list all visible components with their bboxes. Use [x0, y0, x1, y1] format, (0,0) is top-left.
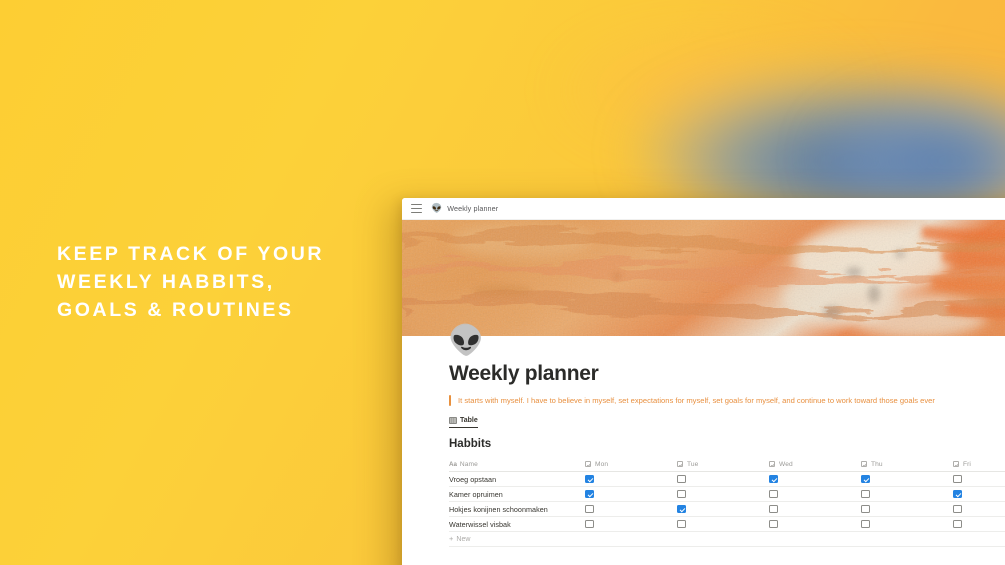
table-row[interactable]: Waterwissel visbak [449, 517, 1005, 532]
cell-wed[interactable] [769, 520, 861, 529]
table-header-row: Aa Name Mon Tue Wed [449, 457, 1005, 472]
row-name-cell[interactable]: Kamer opruimen [449, 490, 585, 499]
cell-thu[interactable] [861, 520, 953, 529]
page-emoji-icon: 👽 [431, 204, 442, 213]
checkbox-icon [861, 461, 867, 467]
table-row[interactable]: Hokjes konijnen schoonmaken [449, 502, 1005, 517]
checkbox-toggle[interactable] [677, 490, 686, 499]
cell-tue[interactable] [677, 475, 769, 484]
cell-mon[interactable] [585, 520, 677, 529]
row-name-cell[interactable]: Waterwissel visbak [449, 520, 585, 529]
checkbox-icon [953, 461, 959, 467]
cell-wed[interactable] [769, 475, 861, 484]
cell-thu[interactable] [861, 475, 953, 484]
checkbox-toggle[interactable] [769, 520, 778, 529]
cell-wed[interactable] [769, 505, 861, 514]
row-name-label: Waterwissel visbak [449, 520, 511, 529]
checkbox-icon [769, 461, 775, 467]
add-new-row-label: New [456, 536, 470, 543]
mars-texture [402, 220, 1005, 336]
column-header-mon[interactable]: Mon [585, 461, 677, 468]
checkbox-toggle[interactable] [677, 520, 686, 529]
checkbox-toggle[interactable] [953, 520, 962, 529]
column-header-wed[interactable]: Wed [769, 461, 861, 468]
add-new-row-button[interactable]: + New [449, 532, 1005, 547]
page-title[interactable]: Weekly planner [449, 362, 1005, 386]
cell-fri[interactable] [953, 520, 1005, 529]
column-header-tue-label: Tue [687, 461, 698, 468]
row-name-cell[interactable]: Vroeg opstaan [449, 475, 585, 484]
checkbox-toggle[interactable] [585, 520, 594, 529]
table-icon [449, 417, 457, 424]
tab-table-label: Table [460, 417, 478, 424]
promo-slide: Keep track of your weekly habbits, goals… [0, 0, 1005, 565]
checkbox-toggle[interactable] [585, 475, 594, 484]
checkbox-toggle[interactable] [769, 490, 778, 499]
cell-tue[interactable] [677, 490, 769, 499]
plus-icon: + [449, 535, 453, 543]
column-header-name[interactable]: Aa Name [449, 461, 585, 468]
page-icon-alien[interactable]: 👽 [448, 324, 482, 358]
column-header-name-label: Name [460, 461, 478, 468]
checkbox-toggle[interactable] [953, 505, 962, 514]
checkbox-toggle[interactable] [861, 490, 870, 499]
row-name-label: Kamer opruimen [449, 490, 503, 499]
cell-fri[interactable] [953, 505, 1005, 514]
cell-fri[interactable] [953, 490, 1005, 499]
row-name-cell[interactable]: Hokjes konijnen schoonmaken [449, 505, 585, 514]
row-name-label: Vroeg opstaan [449, 475, 496, 484]
cell-fri[interactable] [953, 475, 1005, 484]
tab-table[interactable]: Table [449, 417, 478, 428]
cell-tue[interactable] [677, 520, 769, 529]
headline-line-2: weekly habbits, [57, 268, 387, 296]
checkbox-toggle[interactable] [861, 475, 870, 484]
checkbox-toggle[interactable] [677, 475, 686, 484]
cell-mon[interactable] [585, 490, 677, 499]
cell-thu[interactable] [861, 490, 953, 499]
checkbox-toggle[interactable] [953, 490, 962, 499]
checkbox-icon [677, 461, 683, 467]
view-tabs: Table [449, 417, 1005, 428]
app-window: 👽 Weekly planner [402, 198, 1005, 565]
checkbox-toggle[interactable] [861, 520, 870, 529]
column-header-mon-label: Mon [595, 461, 608, 468]
checkbox-toggle[interactable] [677, 505, 686, 514]
checkbox-toggle[interactable] [861, 505, 870, 514]
habits-table: Aa Name Mon Tue Wed [449, 457, 1005, 547]
cell-tue[interactable] [677, 505, 769, 514]
column-header-thu-label: Thu [871, 461, 883, 468]
cell-mon[interactable] [585, 505, 677, 514]
promo-headline: Keep track of your weekly habbits, goals… [57, 240, 387, 324]
cell-thu[interactable] [861, 505, 953, 514]
column-header-wed-label: Wed [779, 461, 793, 468]
cell-wed[interactable] [769, 490, 861, 499]
row-name-label: Hokjes konijnen schoonmaken [449, 505, 548, 514]
page-content: Weekly planner It starts with myself. I … [402, 336, 1005, 547]
warm-glow [560, 30, 860, 150]
breadcrumb[interactable]: Weekly planner [447, 204, 498, 213]
table-row[interactable]: Kamer opruimen [449, 487, 1005, 502]
checkbox-icon [585, 461, 591, 467]
hamburger-icon[interactable] [411, 204, 422, 213]
column-header-thu[interactable]: Thu [861, 461, 953, 468]
table-row[interactable]: Vroeg opstaan [449, 472, 1005, 487]
database-title[interactable]: Habbits [449, 438, 1005, 450]
checkbox-toggle[interactable] [953, 475, 962, 484]
column-header-tue[interactable]: Tue [677, 461, 769, 468]
cell-mon[interactable] [585, 475, 677, 484]
page-quote[interactable]: It starts with myself. I have to believe… [449, 395, 1005, 407]
checkbox-toggle[interactable] [585, 490, 594, 499]
column-header-fri-label: Fri [963, 461, 971, 468]
cover-image[interactable] [402, 220, 1005, 336]
column-header-fri[interactable]: Fri [953, 461, 1005, 468]
headline-line-3: goals & routines [57, 296, 387, 324]
headline-line-1: Keep track of your [57, 240, 387, 268]
checkbox-toggle[interactable] [769, 505, 778, 514]
checkbox-toggle[interactable] [769, 475, 778, 484]
aa-text-icon: Aa [449, 461, 457, 468]
checkbox-toggle[interactable] [585, 505, 594, 514]
window-topbar: 👽 Weekly planner [402, 198, 1005, 220]
